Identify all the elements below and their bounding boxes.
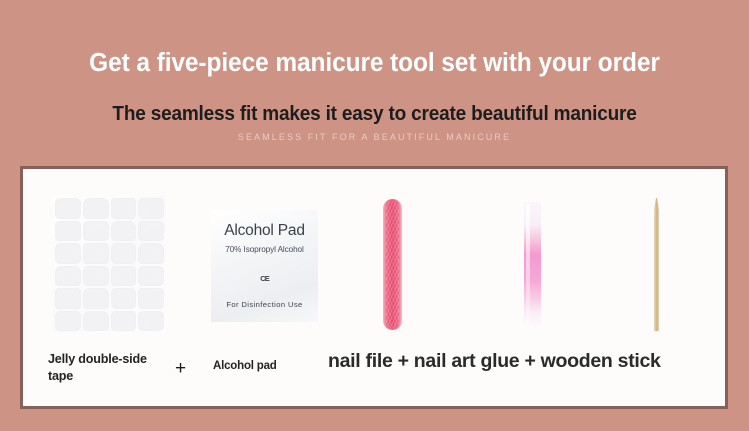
tape-tab — [83, 221, 109, 242]
tape-tab — [111, 288, 137, 309]
tape-tab — [111, 311, 137, 332]
tape-tab — [83, 266, 109, 287]
tape-tab — [138, 198, 164, 219]
packet-usage-text: For Disinfection Use — [226, 300, 302, 309]
tape-tab — [55, 311, 81, 332]
panel-background: Alcohol Pad 70% Isopropyl Alcohol CE For… — [23, 169, 725, 406]
tape-tab — [83, 198, 109, 219]
label-jelly-double-side-tape: Jelly double-side tape — [48, 351, 160, 385]
tape-tab — [111, 221, 137, 242]
ce-mark-icon: CE — [260, 274, 268, 283]
wooden-cuticle-stick-image — [654, 198, 659, 331]
tape-tab — [55, 243, 81, 264]
tape-tab — [111, 243, 137, 264]
packet-title: Alcohol Pad — [224, 222, 305, 240]
promo-subheadline: The seamless fit makes it easy to create… — [19, 103, 731, 126]
tape-tab — [111, 198, 137, 219]
pink-glue-tube-image — [524, 202, 541, 328]
tape-tab — [138, 243, 164, 264]
product-set-panel: Alcohol Pad 70% Isopropyl Alcohol CE For… — [20, 166, 728, 409]
promo-headline: Get a five-piece manicure tool set with … — [15, 49, 734, 78]
tape-tab — [55, 198, 81, 219]
jelly-double-side-tape-sheet-image — [53, 196, 166, 333]
tape-tab — [55, 221, 81, 242]
tape-tab — [83, 243, 109, 264]
tape-tab — [55, 288, 81, 309]
tape-tab — [83, 311, 109, 332]
tape-tab — [138, 221, 164, 242]
tape-tab — [138, 266, 164, 287]
product-images-row: Alcohol Pad 70% Isopropyl Alcohol CE For… — [23, 169, 725, 344]
tape-tab — [83, 288, 109, 309]
pink-nail-file-image — [383, 199, 402, 330]
tape-tab — [138, 288, 164, 309]
label-tools-group: nail file + nail art glue + wooden stick — [328, 350, 661, 373]
alcohol-pad-packet-image: Alcohol Pad 70% Isopropyl Alcohol CE For… — [211, 210, 318, 322]
promo-tagline: SEAMLESS FIT FOR A BEAUTIFUL MANICURE — [0, 132, 749, 142]
product-labels-row: Jelly double-side tape + Alcohol pad nai… — [23, 344, 725, 406]
tape-tab — [138, 311, 164, 332]
tape-tab — [55, 266, 81, 287]
tape-tab — [111, 266, 137, 287]
packet-subtitle: 70% Isopropyl Alcohol — [225, 245, 303, 254]
label-alcohol-pad: Alcohol pad — [213, 360, 277, 372]
plus-separator-icon: + — [175, 358, 186, 380]
